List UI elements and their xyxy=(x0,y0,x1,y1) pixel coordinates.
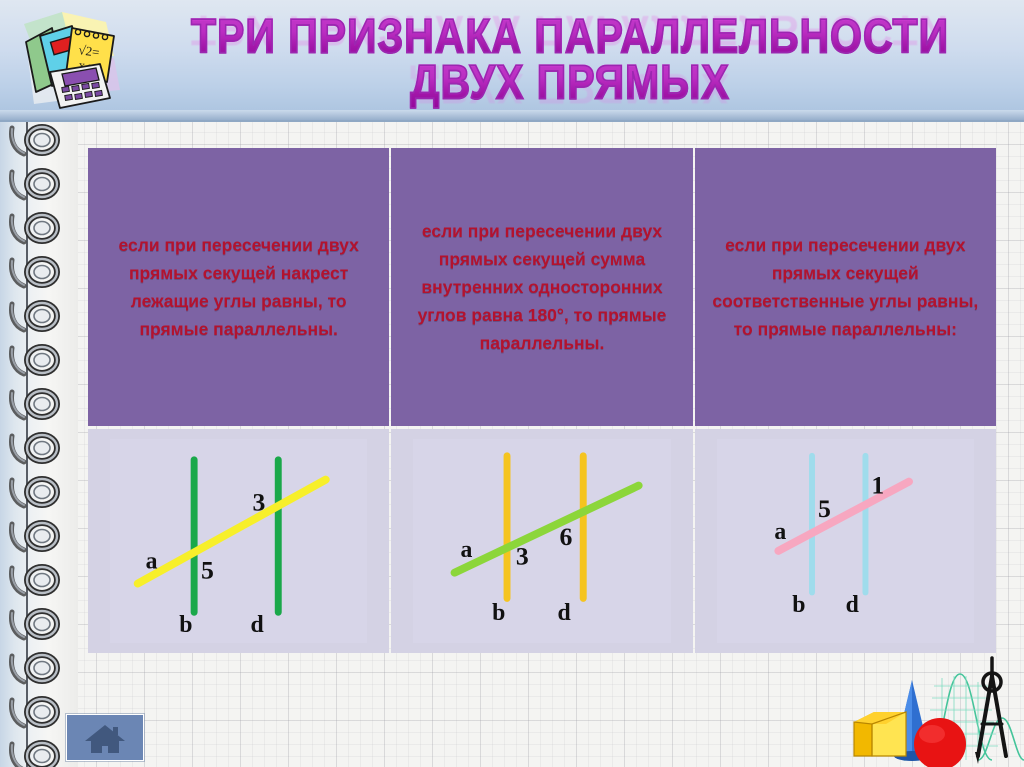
slide-header: √2= х,у ТРИ ПРИЗНАКА ПАРАЛЛЕЛЬНОСТИ ТРИ … xyxy=(0,0,1024,122)
table-row-figures: a b d 3 5 a b d 6 3 xyxy=(88,429,996,653)
figure-cointerior-angles: a b d 6 3 xyxy=(413,439,670,643)
figure2-label-d: d xyxy=(558,600,571,626)
spiral-ring xyxy=(8,432,62,466)
criterion-cell-3: если при пересечении двух прямых секущей… xyxy=(695,148,996,426)
figure-corresponding-angles: a b d 1 5 xyxy=(717,439,974,643)
notebook-spiral-binding: (function(){ var host=document.getElemen… xyxy=(0,118,78,767)
figure1-label-a: a xyxy=(146,549,158,575)
figure2-label-b: b xyxy=(493,600,506,626)
figure-cell-1: a b d 3 5 xyxy=(88,429,389,653)
spiral-ring xyxy=(8,608,62,642)
spiral-ring xyxy=(8,212,62,246)
books-notepad-calculator-icon: √2= х,у xyxy=(10,6,130,118)
spiral-ring xyxy=(8,696,62,730)
figure-cell-3: a b d 1 5 xyxy=(695,429,996,653)
figure3-label-a: a xyxy=(774,519,786,545)
figure2-angle-upper: 6 xyxy=(560,522,573,551)
criteria-table: если при пересечении двух прямых секущей… xyxy=(88,148,996,654)
criterion-text-1: если при пересечении двух прямых секущей… xyxy=(102,231,375,343)
criterion-text-2: если при пересечении двух прямых секущей… xyxy=(405,217,678,357)
figure-cell-2: a b d 6 3 xyxy=(391,429,692,653)
criterion-cell-2: если при пересечении двух прямых секущей… xyxy=(391,148,692,426)
spiral-ring xyxy=(8,388,62,422)
spiral-ring xyxy=(8,520,62,554)
spiral-ring xyxy=(8,300,62,334)
figure1-label-d: d xyxy=(251,612,264,638)
figure2-angle-lower: 3 xyxy=(516,542,529,571)
figure-panel-1: a b d 3 5 xyxy=(110,439,367,643)
table-row-criteria: если при пересечении двух прямых секущей… xyxy=(88,148,996,426)
figure3-label-d: d xyxy=(845,592,858,618)
page-title-line2: ДВУХ ПРЯМЫХ xyxy=(120,56,1020,108)
spiral-ring xyxy=(8,256,62,290)
figure3-angle-upper: 1 xyxy=(871,470,884,499)
figure3-label-b: b xyxy=(792,592,805,618)
criterion-cell-1: если при пересечении двух прямых секущей… xyxy=(88,148,389,426)
criterion-text-3: если при пересечении двух прямых секущей… xyxy=(709,231,982,343)
figure3-angle-lower: 5 xyxy=(818,494,831,523)
spiral-ring xyxy=(8,564,62,598)
spiral-ring xyxy=(8,168,62,202)
title-block: ТРИ ПРИЗНАКА ПАРАЛЛЕЛЬНОСТИ ТРИ ПРИЗНАКА… xyxy=(120,4,1020,116)
home-icon xyxy=(67,715,143,760)
figure1-angle-upper: 3 xyxy=(253,487,266,516)
spiral-ring xyxy=(8,476,62,510)
spiral-ring xyxy=(8,344,62,378)
spiral-ring xyxy=(8,124,62,158)
figure2-label-a: a xyxy=(461,537,473,563)
figure1-angle-lower: 5 xyxy=(201,556,214,585)
figure-panel-2: a b d 6 3 xyxy=(413,439,670,643)
geometry-solids-compass-icon xyxy=(846,652,1024,767)
spiral-ring xyxy=(8,652,62,686)
home-button[interactable] xyxy=(66,714,144,761)
figure1-label-b: b xyxy=(179,612,192,638)
spiral-ring xyxy=(8,740,62,767)
figure-panel-3: a b d 1 5 xyxy=(717,439,974,643)
figure-alternate-interior-angles: a b d 3 5 xyxy=(110,439,367,643)
